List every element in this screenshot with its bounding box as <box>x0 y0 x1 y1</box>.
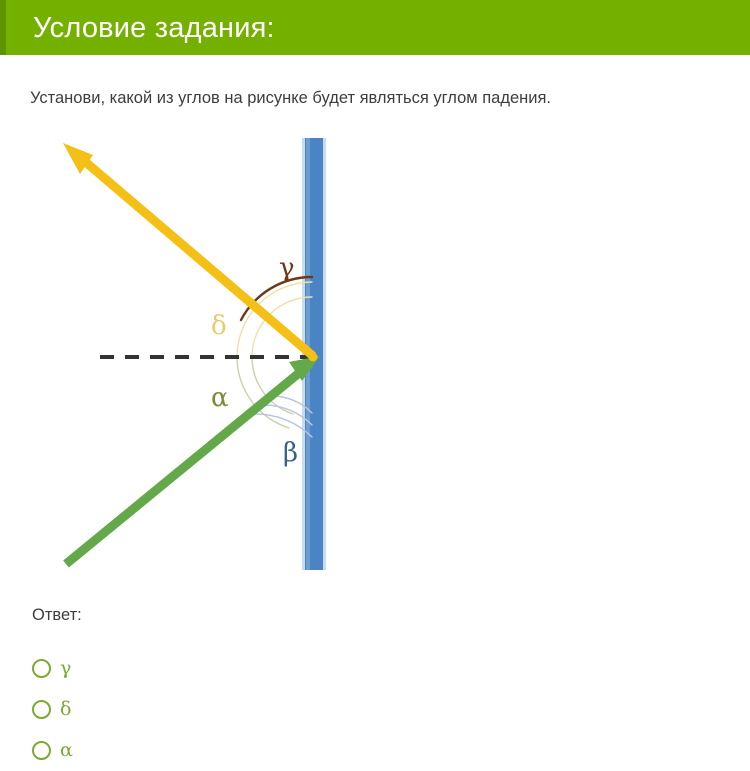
radio-button-gamma[interactable] <box>32 659 51 678</box>
reflection-point <box>309 353 318 362</box>
answer-options-list: γ δ α <box>32 648 332 771</box>
incident-ray-green <box>66 356 320 564</box>
option-label-gamma: γ <box>60 659 71 678</box>
option-alpha[interactable]: α <box>32 730 332 771</box>
option-label-delta: δ <box>60 700 71 719</box>
page-header: Условие задания: <box>0 0 750 55</box>
option-delta[interactable]: δ <box>32 689 332 730</box>
question-text: Установи, какой из углов на рисунке буде… <box>30 87 551 109</box>
radio-button-delta[interactable] <box>32 700 51 719</box>
label-gamma: γ <box>279 253 295 283</box>
header-accent-bar <box>0 0 6 55</box>
reflection-diagram: γ δ α β <box>30 130 360 580</box>
answer-label: Ответ: <box>32 606 82 625</box>
option-gamma[interactable]: γ <box>32 648 332 689</box>
reflected-ray-yellow <box>63 143 313 356</box>
label-beta: β <box>283 438 298 468</box>
option-label-alpha: α <box>60 741 73 760</box>
radio-button-alpha[interactable] <box>32 741 51 760</box>
label-alpha: α <box>211 383 229 413</box>
page-title: Условие задания: <box>33 9 275 47</box>
label-delta: δ <box>211 311 227 341</box>
